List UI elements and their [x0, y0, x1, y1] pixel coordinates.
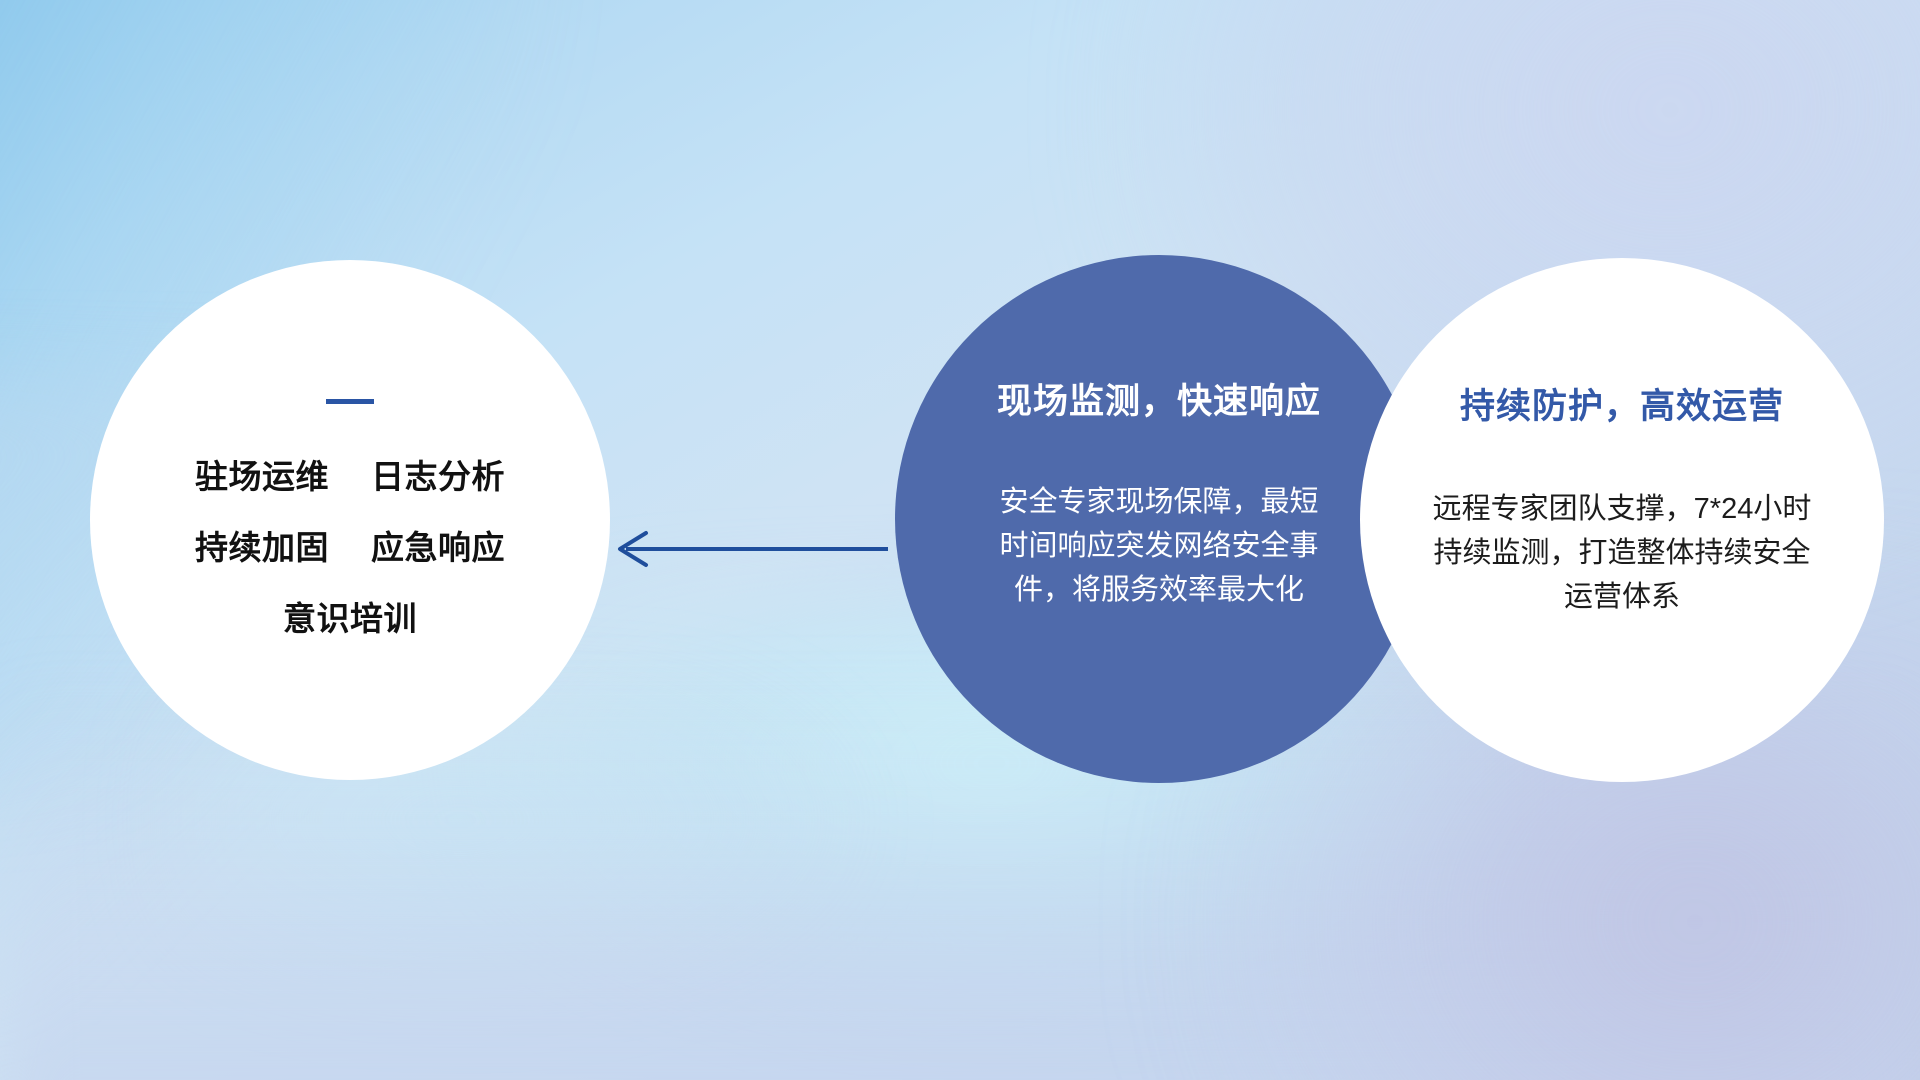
left-circle-content: 驻场运维 日志分析 持续加固 应急响应 意识培训 — [90, 399, 610, 635]
onsite-monitoring-body: 安全专家现场保障，最短时间响应突发网络安全事件，将服务效率最大化 — [994, 480, 1324, 612]
onsite-monitoring-heading: 现场监测，快速响应 — [997, 373, 1321, 424]
service-tag-row: 驻场运维 日志分析 — [195, 460, 505, 493]
slide-canvas: 驻场运维 日志分析 持续加固 应急响应 意识培训 现场监测，快速响应 安全专家现… — [0, 0, 1920, 1080]
service-tag-row: 持续加固 应急响应 — [195, 531, 505, 564]
service-tag: 应急响应 — [371, 531, 505, 564]
continuous-protection-circle: 持续防护，高效运营 远程专家团队支撑，7*24小时持续监测，打造整体持续安全运营… — [1360, 258, 1884, 782]
service-tag-row: 意识培训 — [283, 602, 417, 635]
service-tag: 意识培训 — [283, 602, 417, 635]
divider-dash — [326, 399, 374, 404]
driving-services-circle: 驻场运维 日志分析 持续加固 应急响应 意识培训 — [90, 260, 610, 780]
continuous-protection-heading: 持续防护，高效运营 — [1460, 378, 1784, 429]
service-tag: 驻场运维 — [195, 460, 329, 493]
service-tag: 持续加固 — [195, 531, 329, 564]
service-tag: 日志分析 — [371, 460, 505, 493]
left-pointing-flow-arrow — [600, 522, 890, 576]
continuous-protection-body: 远程专家团队支撑，7*24小时持续监测，打造整体持续安全运营体系 — [1426, 487, 1818, 619]
onsite-monitoring-circle: 现场监测，快速响应 安全专家现场保障，最短时间响应突发网络安全事件，将服务效率最… — [895, 255, 1423, 783]
